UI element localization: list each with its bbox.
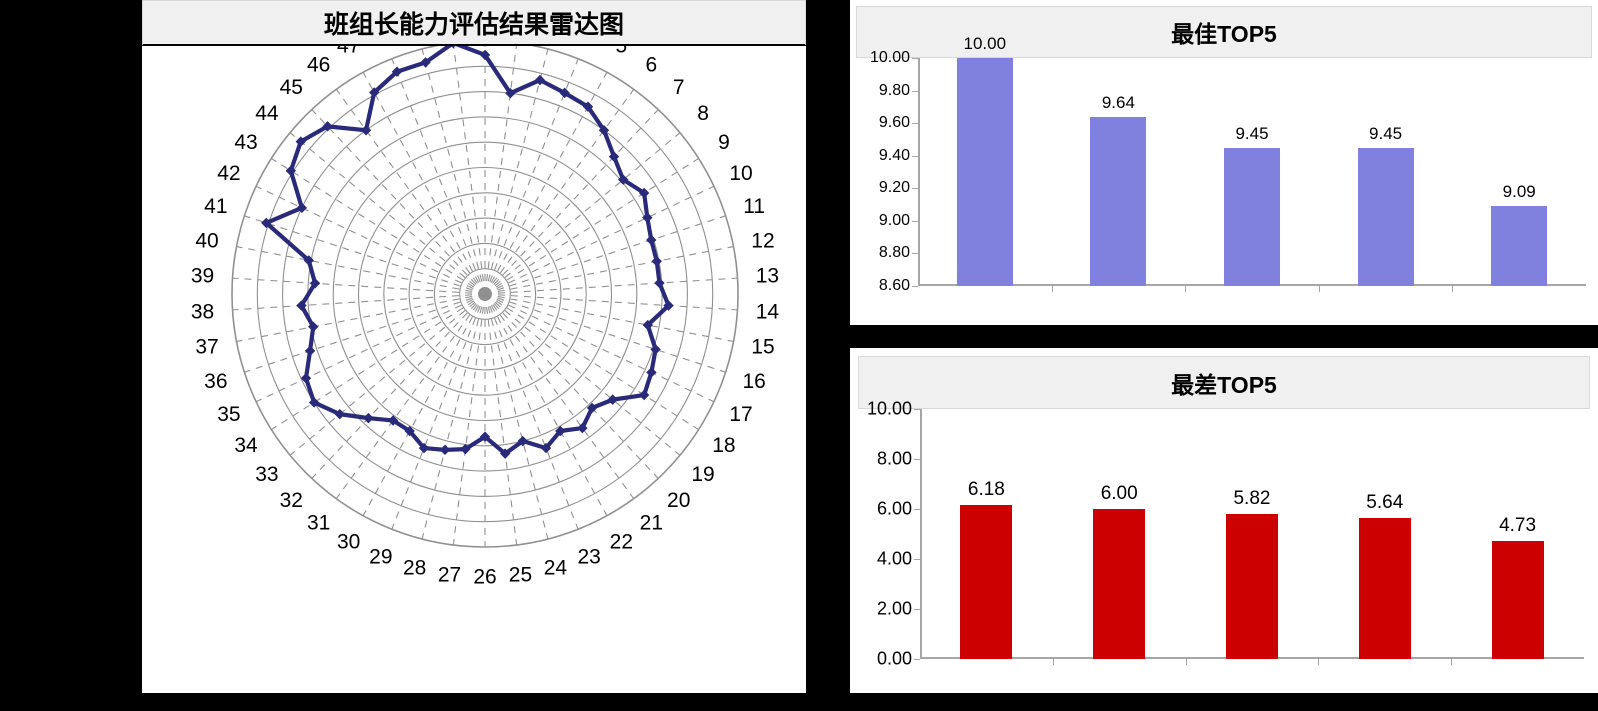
radar-axis-label-38: 38 [191,300,214,323]
x-tick-mark [1319,286,1320,292]
bar-slot: 9.64 [1052,58,1186,286]
radar-axis-label-23: 23 [577,546,600,569]
radar-axis-label-36: 36 [204,370,227,393]
bar-slot: 9.45 [1185,58,1319,286]
radar-data-point [361,125,371,135]
y-tick-label: 9.40 [879,147,910,165]
x-tick-mark [1052,286,1053,292]
radar-axis-label-20: 20 [667,489,690,512]
radar-data-point [652,256,662,266]
radar-axis-label-46: 46 [307,54,330,77]
bar[interactable] [1359,518,1411,659]
bar[interactable] [960,505,1012,660]
bar[interactable] [957,58,1013,286]
worst-top5-bar-chart: 10.008.006.004.002.000.00 6.186.005.825.… [858,409,1590,685]
radar-axis-label-27: 27 [438,563,461,586]
radar-axis-label-16: 16 [742,370,765,393]
bar[interactable] [1492,541,1544,659]
radar-axis-label-44: 44 [255,102,279,125]
bar-value-label: 5.82 [1233,488,1270,510]
y-tick-label: 8.00 [877,449,912,470]
radar-axis-label-9: 9 [718,131,730,154]
radar-data-point [440,445,450,455]
radar-data-point [305,346,315,356]
y-tick-label: 9.00 [879,212,910,230]
radar-axis-label-26: 26 [473,566,496,589]
radar-axis-label-12: 12 [751,229,774,252]
category-label: A3或8D或QCC改善 [1208,691,1295,706]
bar-value-label: 10.00 [964,34,1007,54]
radar-axis-label-13: 13 [756,265,779,288]
worst-plot-area: 6.186.005.825.644.73 [920,409,1584,659]
radar-axis-label-11: 11 [743,195,765,218]
bar[interactable] [1358,148,1414,286]
best-plot-area: 10.009.649.459.459.09 [918,58,1586,286]
worst-category-labels: KYT危险预知训练多技能（岗位操作）A3或8D或QCC改善QC七大工具的应用QC… [920,687,1584,711]
y-tick-mark [912,286,918,287]
bar-slot: 5.82 [1186,409,1319,659]
radar-data-point [639,390,649,400]
radar-axis-label-24: 24 [544,557,568,580]
radar-chart-title: 班组长能力评估结果雷达图 [142,0,806,46]
radar-axis-label-5: 5 [615,46,627,58]
radar-axis-label-40: 40 [195,229,218,252]
radar-plot-area: 1234567891011121314151617181920212223242… [142,46,806,693]
radar-axis-label-32: 32 [280,489,303,512]
best-y-axis: 10.009.809.609.409.209.008.808.60 [856,58,918,320]
category-label: QC七大工具的应用 [1342,691,1427,706]
bar-value-label: 9.45 [1369,124,1402,144]
bar-slot: 9.45 [1319,58,1453,286]
radar-axis-label-47: 47 [337,46,360,58]
x-tick-mark [1185,286,1186,292]
radar-axis-label-45: 45 [280,76,303,99]
radar-axis-label-8: 8 [697,102,709,125]
radar-axis-label-6: 6 [645,54,657,77]
radar-axis-label-15: 15 [751,336,774,359]
bar[interactable] [1224,148,1280,286]
radar-axis-label-35: 35 [217,403,240,426]
radar-axis-label-42: 42 [217,162,240,185]
x-tick-mark [1186,659,1187,665]
bar-value-label: 4.73 [1499,515,1536,537]
y-tick-label: 9.20 [879,179,910,197]
best-top5-bar-chart: 10.009.809.609.409.209.008.808.60 10.009… [856,58,1592,320]
bar-slot: 5.64 [1318,409,1451,659]
y-tick-label: 9.60 [879,114,910,132]
y-tick-label: 8.60 [879,277,910,295]
radar-axis-label-7: 7 [673,76,685,99]
category-label: QC工程图/控制计划的应用 [1459,691,1577,706]
radar-axis-label-14: 14 [756,300,780,323]
radar-data-point [646,367,656,377]
bar-slot: 4.73 [1451,409,1584,659]
worst-y-axis: 10.008.006.004.002.000.00 [858,409,920,685]
x-tick-mark [1318,659,1319,665]
worst-top5-title: 最差TOP5 [858,356,1590,409]
radar-axis-label-31: 31 [307,511,330,534]
radar-axis-label-21: 21 [640,511,663,534]
best-top5-panel: 最佳TOP5 10.009.809.609.409.209.008.808.60… [850,0,1598,325]
radar-axis-label-39: 39 [191,265,214,288]
radar-axis-label-43: 43 [234,131,257,154]
radar-axis-label-10: 10 [729,162,752,185]
bar[interactable] [1090,117,1146,286]
y-tick-label: 6.00 [877,499,912,520]
radar-axis-label-25: 25 [509,563,532,586]
y-tick-label: 9.80 [879,82,910,100]
radar-axis-label-22: 22 [610,530,633,553]
y-tick-label: 10.00 [870,49,910,67]
radar-axis-label-17: 17 [729,403,752,426]
bar[interactable] [1491,206,1547,286]
y-tick-label: 2.00 [877,599,912,620]
x-tick-mark [1452,286,1453,292]
worst-top5-panel: 最差TOP5 10.008.006.004.002.000.00 6.186.0… [850,348,1598,693]
radar-axis-label-19: 19 [691,463,714,486]
radar-axis-label-37: 37 [195,336,218,359]
bar-slot: 9.09 [1452,58,1586,286]
x-tick-mark [1451,659,1452,665]
bar-value-label: 9.09 [1503,182,1536,202]
category-label: 多技能（岗位操作） [1074,691,1164,706]
dashboard-root: 班组长能力评估结果雷达图 123456789101112131415161718… [0,0,1598,693]
y-tick-label: 0.00 [877,649,912,670]
bar-value-label: 5.64 [1366,492,1403,514]
radar-axis-label-28: 28 [403,557,426,580]
radar-chart-svg: 1234567891011121314151617181920212223242… [142,46,806,693]
radar-axis-label-29: 29 [369,546,392,569]
radar-axis-label-18: 18 [712,434,735,457]
y-tick-label: 10.00 [867,399,912,420]
radar-chart-panel: 班组长能力评估结果雷达图 123456789101112131415161718… [142,0,806,693]
bar-value-label: 6.18 [968,479,1005,501]
bar-value-label: 9.45 [1235,124,1268,144]
category-label: KYT危险预知训练 [947,691,1026,706]
bar-slot: 6.00 [1053,409,1186,659]
bar-value-label: 6.00 [1101,483,1138,505]
bar-slot: 10.00 [918,58,1052,286]
bar-value-label: 9.64 [1102,93,1135,113]
radar-axis-label-33: 33 [255,463,278,486]
x-tick-mark [1053,659,1054,665]
y-tick-label: 4.00 [877,549,912,570]
radar-series-line [266,46,668,454]
radar-axis-label-34: 34 [234,434,258,457]
radar-data-point [642,212,652,222]
radar-axis-label-30: 30 [337,530,360,553]
bar[interactable] [1226,514,1278,660]
radar-axis-label-41: 41 [204,195,227,218]
bar[interactable] [1093,509,1145,659]
radar-data-point [286,166,296,176]
bar-slot: 6.18 [920,409,1053,659]
y-tick-label: 8.80 [879,244,910,262]
y-tick-mark [914,659,920,660]
